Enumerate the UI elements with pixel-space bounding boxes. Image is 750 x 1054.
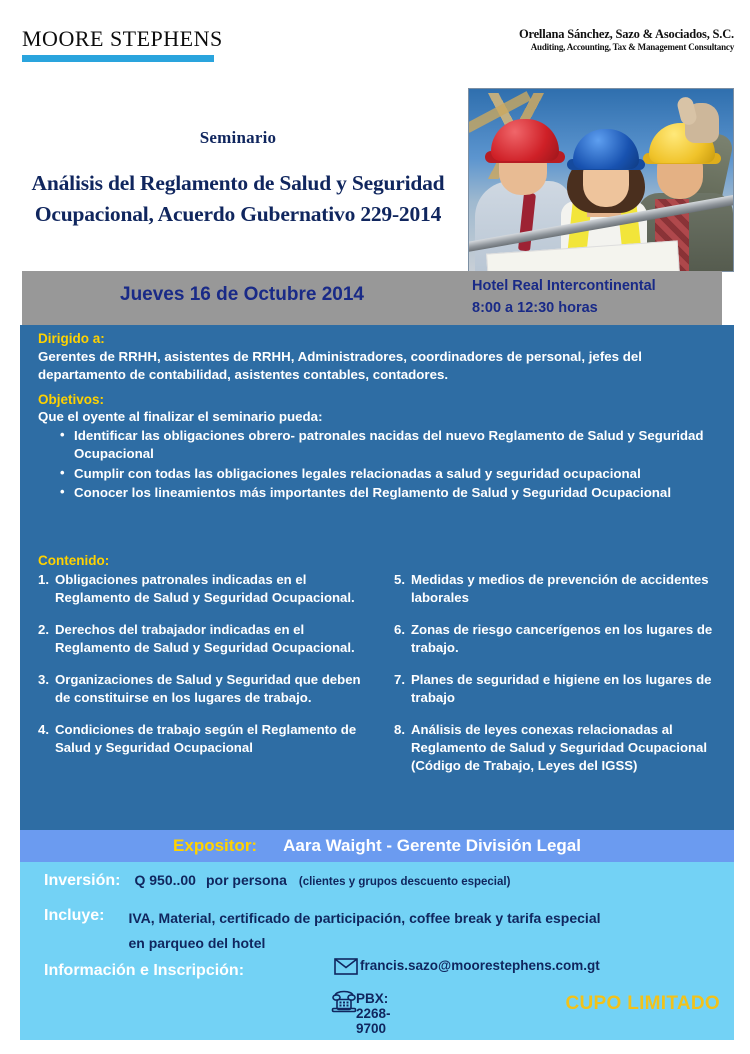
email-address[interactable]: francis.sazo@moorestephens.com.gt [360,958,600,973]
worker-blue-helmet-shape [573,129,639,169]
contact-label: Información e Inscripción: [44,962,244,980]
seminar-title-block: Seminario Análisis del Reglamento de Sal… [18,128,458,229]
list-item: 2. Derechos del trabajador indicadas en … [38,621,374,657]
list-item: 6. Zonas de riesgo cancerígenos en los l… [394,621,730,657]
worker-thumb-shape [676,95,698,126]
workers-photo [468,88,734,272]
item-number: 7. [394,671,411,707]
price-amount: Q 950..00 [134,872,196,888]
list-item: 4. Condiciones de trabajo según el Regla… [38,721,374,757]
includes-text: IVA, Material, certificado de participac… [128,907,600,957]
phone-contact[interactable]: PBX: 2268-9700 [330,991,391,1036]
event-venue: Hotel Real Intercontinental [472,276,656,298]
brand-name: MOORE STEPHENS [22,28,222,50]
speaker-label: Expositor: [173,836,257,856]
event-time: 8:00 a 12:30 horas [472,298,656,320]
item-number: 5. [394,571,411,607]
item-number: 2. [38,621,55,657]
objectives-section: Objetivos: Que el oyente al finalizar el… [38,392,730,503]
audience-label: Dirigido a: [38,331,720,346]
envelope-icon [334,958,358,980]
includes-line-2: en parqueo del hotel [128,935,265,951]
item-number: 4. [38,721,55,757]
seminar-headline-line-2: Ocupacional, Acuerdo Gubernativo 229-201… [18,199,458,230]
item-text: Derechos del trabajador indicadas en el … [55,621,374,657]
item-text: Organizaciones de Salud y Seguridad que … [55,671,374,707]
limited-seats-badge: CUPO LIMITADO [566,993,720,1015]
seminar-details-panel: Dirigido a: Gerentes de RRHH, asistentes… [20,325,734,830]
list-item: Cumplir con todas las obligaciones legal… [60,465,730,483]
includes-line-1: IVA, Material, certificado de participac… [128,910,600,926]
list-item: 8. Análisis de leyes conexas relacionada… [394,721,730,775]
phone-number[interactable]: PBX: 2268-9700 [356,991,391,1036]
objectives-label: Objetivos: [38,392,730,407]
list-item: Identificar las obligaciones obrero- pat… [60,427,730,464]
moore-stephens-logo: MOORE STEPHENS [22,28,222,62]
list-item: Conocer los lineamientos más importantes… [60,484,730,502]
item-text: Medidas y medios de prevención de accide… [411,571,730,607]
audience-section: Dirigido a: Gerentes de RRHH, asistentes… [38,331,720,385]
price-label: Inversión: [44,872,120,890]
objectives-lead: Que el oyente al finalizar el seminario … [38,409,730,424]
audience-text: Gerentes de RRHH, asistentes de RRHH, Ad… [38,348,720,385]
firm-identity: Orellana Sánchez, Sazo & Asociados, S.C.… [519,27,734,53]
includes-row: Incluye: IVA, Material, certificado de p… [44,907,601,957]
item-text: Condiciones de trabajo según el Reglamen… [55,721,374,757]
list-item: 7. Planes de seguridad e higiene en los … [394,671,730,707]
firm-subtitle: Auditing, Accounting, Tax & Management C… [519,42,734,53]
event-details-band: Jueves 16 de Octubre 2014 Hotel Real Int… [22,271,722,325]
item-number: 3. [38,671,55,707]
price-unit: por persona [206,872,287,888]
objectives-list: Identificar las obligaciones obrero- pat… [38,427,730,502]
price-note: (clientes y grupos descuento especial) [299,876,511,888]
contents-label: Contenido: [38,553,109,568]
item-number: 6. [394,621,411,657]
speaker-name: Aara Waight - Gerente División Legal [283,836,581,856]
page-header: MOORE STEPHENS Orellana Sánchez, Sazo & … [0,0,750,86]
item-text: Análisis de leyes conexas relacionadas a… [411,721,730,775]
item-text: Planes de seguridad e higiene en los lug… [411,671,730,707]
list-item: 3. Organizaciones de Salud y Seguridad q… [38,671,374,707]
email-contact[interactable]: francis.sazo@moorestephens.com.gt [334,958,600,973]
firm-name: Orellana Sánchez, Sazo & Asociados, S.C. [519,27,734,41]
seminar-headline: Análisis del Reglamento de Salud y Segur… [18,168,458,229]
includes-label: Incluye: [44,907,104,925]
contents-left-column: 1. Obligaciones patronales indicadas en … [38,571,374,789]
seminar-headline-line-1: Análisis del Reglamento de Salud y Segur… [18,168,458,199]
seminar-kicker: Seminario [18,128,458,148]
contents-columns: 1. Obligaciones patronales indicadas en … [38,571,734,789]
item-number: 8. [394,721,411,775]
registration-footer: Inversión: Q 950..00 por persona (client… [20,862,734,1040]
brand-underline-bar [22,55,214,62]
contents-right-column: 5. Medidas y medios de prevención de acc… [394,571,730,789]
item-text: Zonas de riesgo cancerígenos en los luga… [411,621,730,657]
telephone-icon [330,987,358,1018]
item-text: Obligaciones patronales indicadas en el … [55,571,374,607]
list-item: 5. Medidas y medios de prevención de acc… [394,571,730,607]
list-item: 1. Obligaciones patronales indicadas en … [38,571,374,607]
price-row: Inversión: Q 950..00 por persona (client… [44,872,510,890]
event-venue-block: Hotel Real Intercontinental 8:00 a 12:30… [472,276,656,320]
event-date: Jueves 16 de Octubre 2014 [120,284,364,306]
speaker-band: Expositor: Aara Waight - Gerente Divisió… [20,830,734,862]
item-number: 1. [38,571,55,607]
